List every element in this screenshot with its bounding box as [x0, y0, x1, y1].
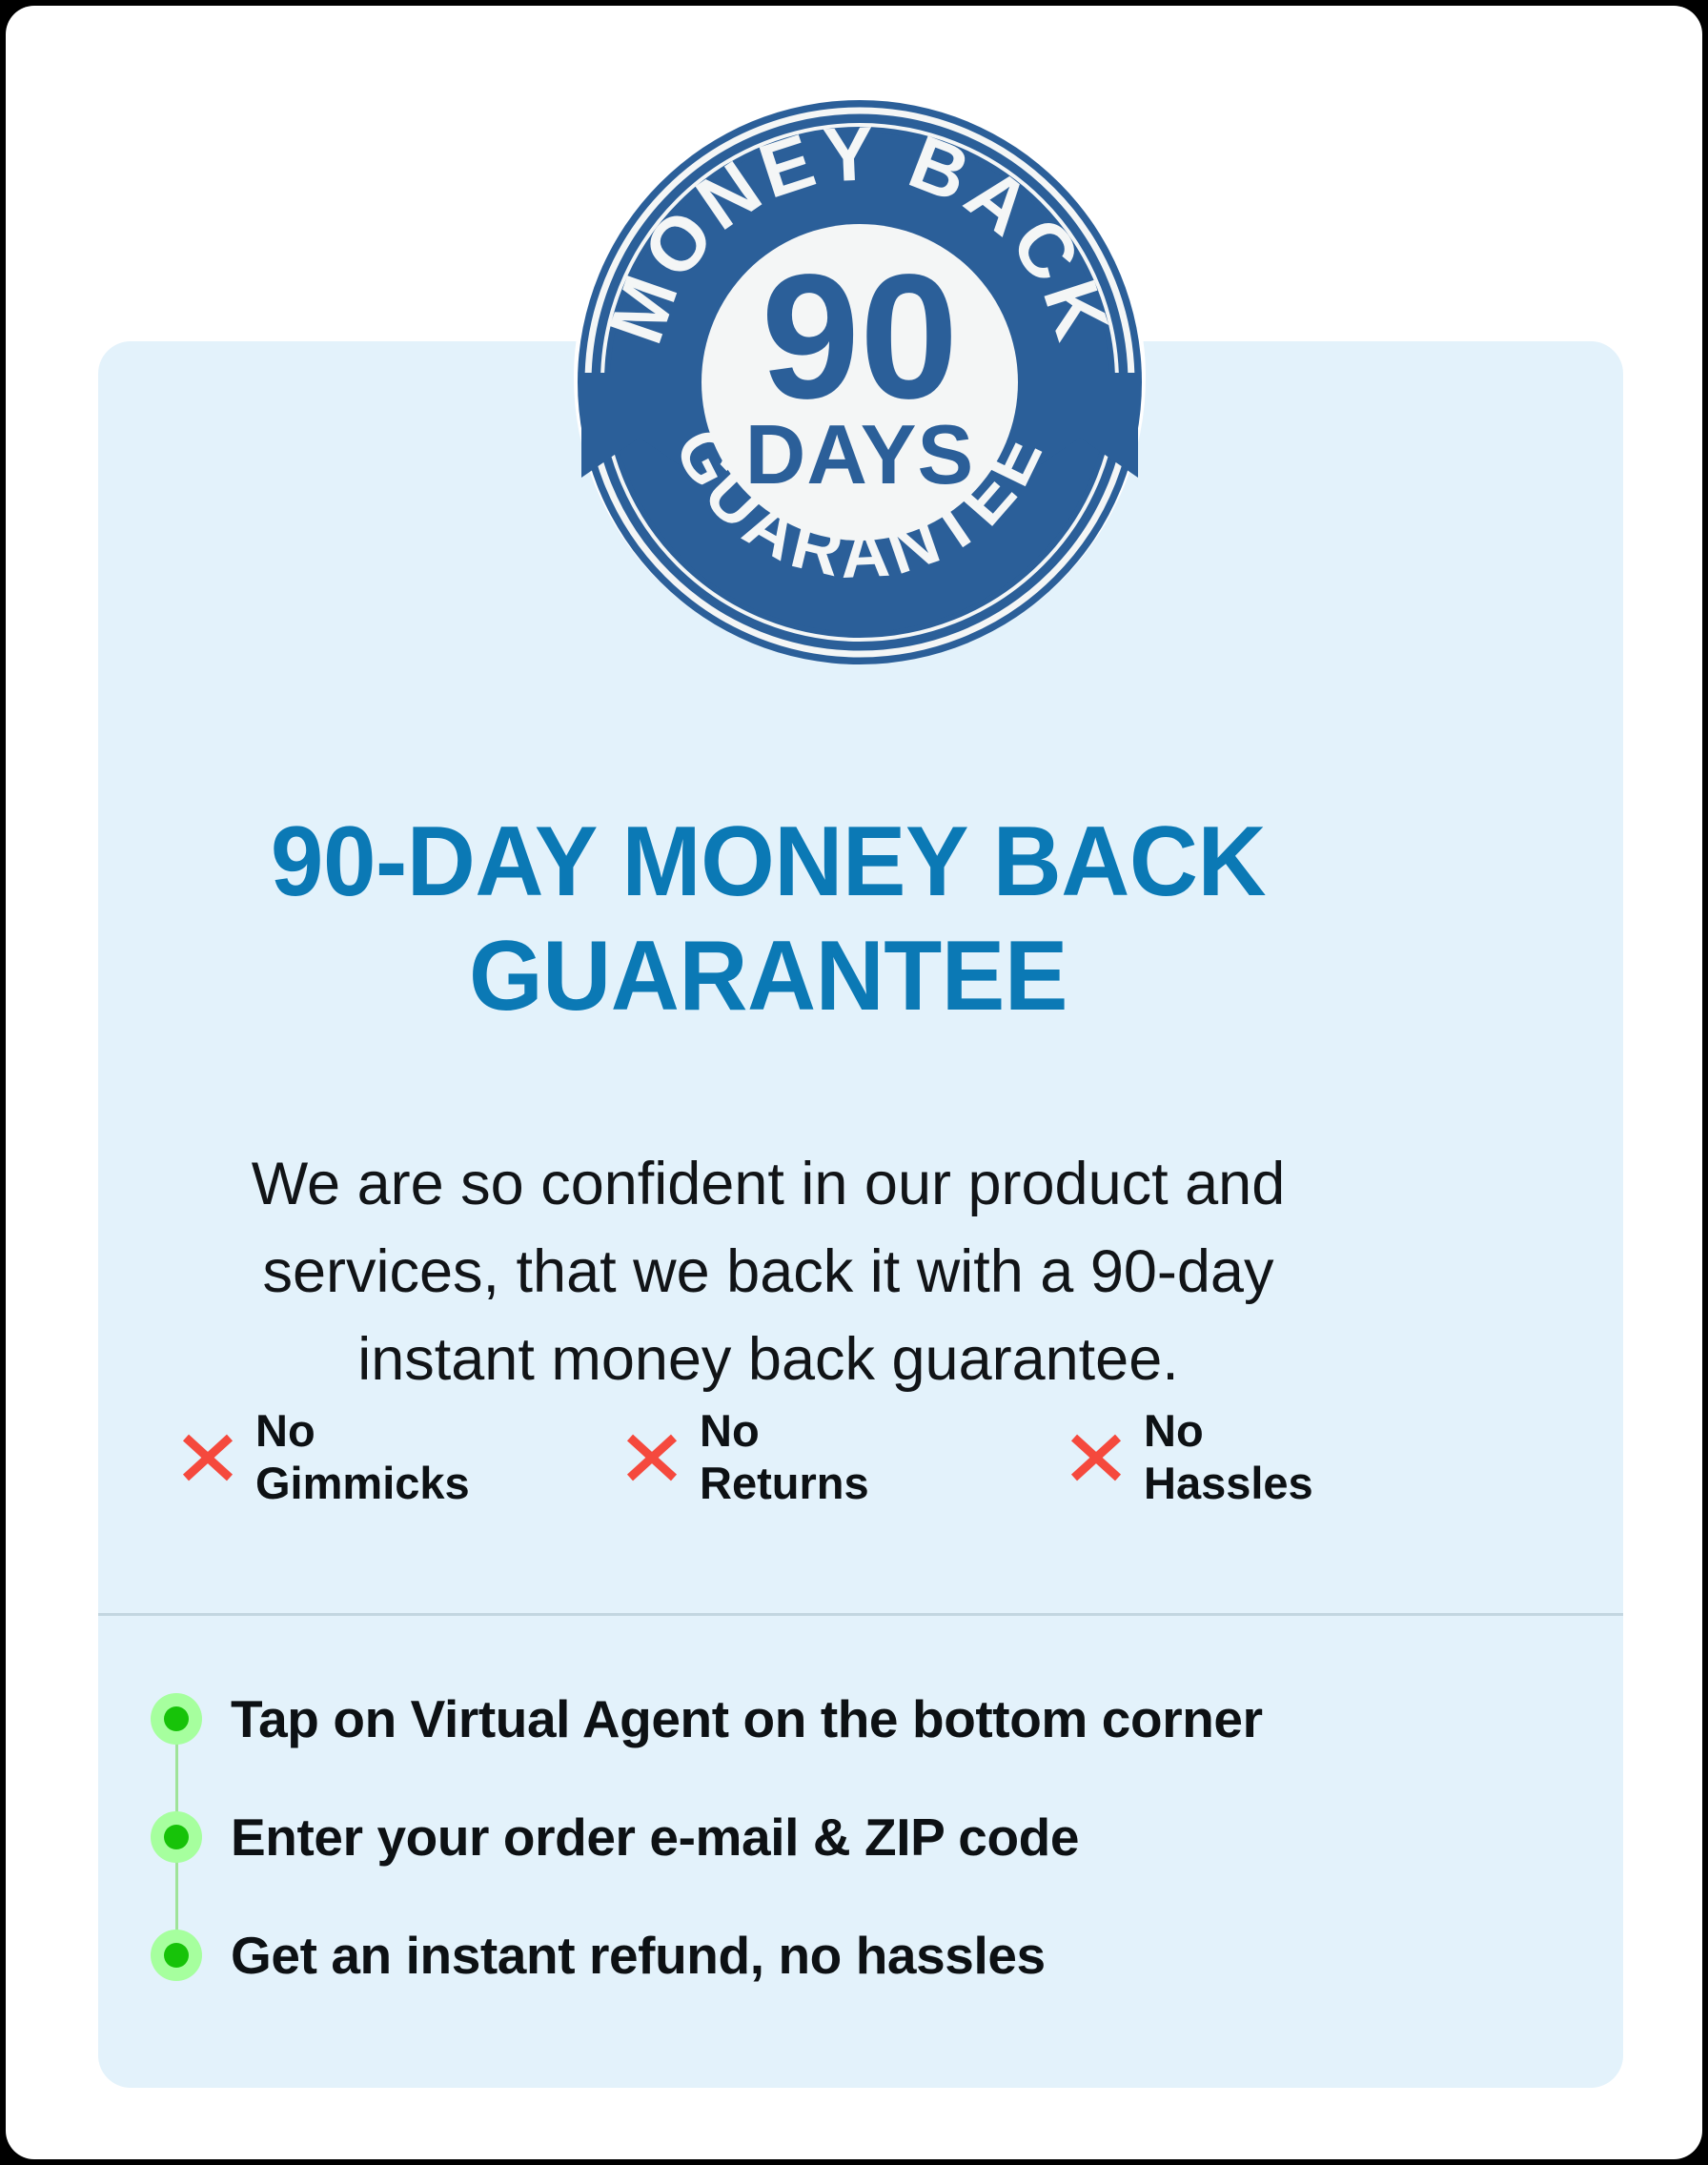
feature-label-line-2: Hassles	[1144, 1458, 1313, 1508]
feature-label-line-1: No	[700, 1405, 760, 1456]
refund-steps-list: Tap on Virtual Agent on the bottom corne…	[151, 1660, 1533, 2014]
green-dot-icon	[151, 1811, 202, 1863]
feature-no-hassles: NoHassles	[1066, 1405, 1510, 1509]
list-item: Enter your order e-mail & ZIP code	[151, 1778, 1533, 1896]
page-title-line-1: 90-DAY MONEY BACK	[271, 807, 1266, 917]
feature-no-gimmicks: NoGimmicks	[177, 1405, 621, 1509]
feature-label: NoHassles	[1144, 1405, 1313, 1509]
no-promises-row: NoGimmicks NoReturns NoHassles	[177, 1405, 1512, 1509]
guarantee-card: MONEY BACK GUARANTEE 90 DAYS 90-DAY MONE…	[6, 6, 1702, 2159]
step-label: Get an instant refund, no hassles	[231, 1927, 1046, 1985]
x-mark-icon	[1066, 1427, 1127, 1488]
feature-label-line-1: No	[1144, 1405, 1204, 1456]
green-dot-icon	[151, 1693, 202, 1745]
feature-label-line-2: Returns	[700, 1458, 869, 1508]
list-item: Get an instant refund, no hassles	[151, 1896, 1533, 2014]
svg-text:90: 90	[762, 238, 959, 436]
page-title: 90-DAY MONEY BACKGUARANTEE	[155, 805, 1381, 1034]
guarantee-description: We are so confident in our product and s…	[173, 1141, 1364, 1404]
feature-no-returns: NoReturns	[621, 1405, 1066, 1509]
x-mark-icon	[177, 1427, 238, 1488]
green-dot-core	[164, 1943, 189, 1968]
money-back-guarantee-badge: MONEY BACK GUARANTEE 90 DAYS	[539, 71, 1180, 700]
feature-label-line-1: No	[255, 1405, 315, 1456]
green-dot-icon	[151, 1930, 202, 1981]
page-title-line-2: GUARANTEE	[469, 921, 1067, 1031]
list-item: Tap on Virtual Agent on the bottom corne…	[151, 1660, 1533, 1778]
section-divider	[98, 1613, 1623, 1616]
green-dot-core	[164, 1706, 189, 1731]
money-back-guarantee-seal-icon: MONEY BACK GUARANTEE 90 DAYS	[574, 96, 1146, 668]
step-label: Tap on Virtual Agent on the bottom corne…	[231, 1690, 1263, 1748]
feature-label: NoReturns	[700, 1405, 869, 1509]
x-mark-icon	[621, 1427, 682, 1488]
svg-text:DAYS: DAYS	[745, 407, 974, 501]
feature-label: NoGimmicks	[255, 1405, 470, 1509]
step-label: Enter your order e-mail & ZIP code	[231, 1808, 1079, 1867]
green-dot-core	[164, 1825, 189, 1849]
feature-label-line-2: Gimmicks	[255, 1458, 470, 1508]
